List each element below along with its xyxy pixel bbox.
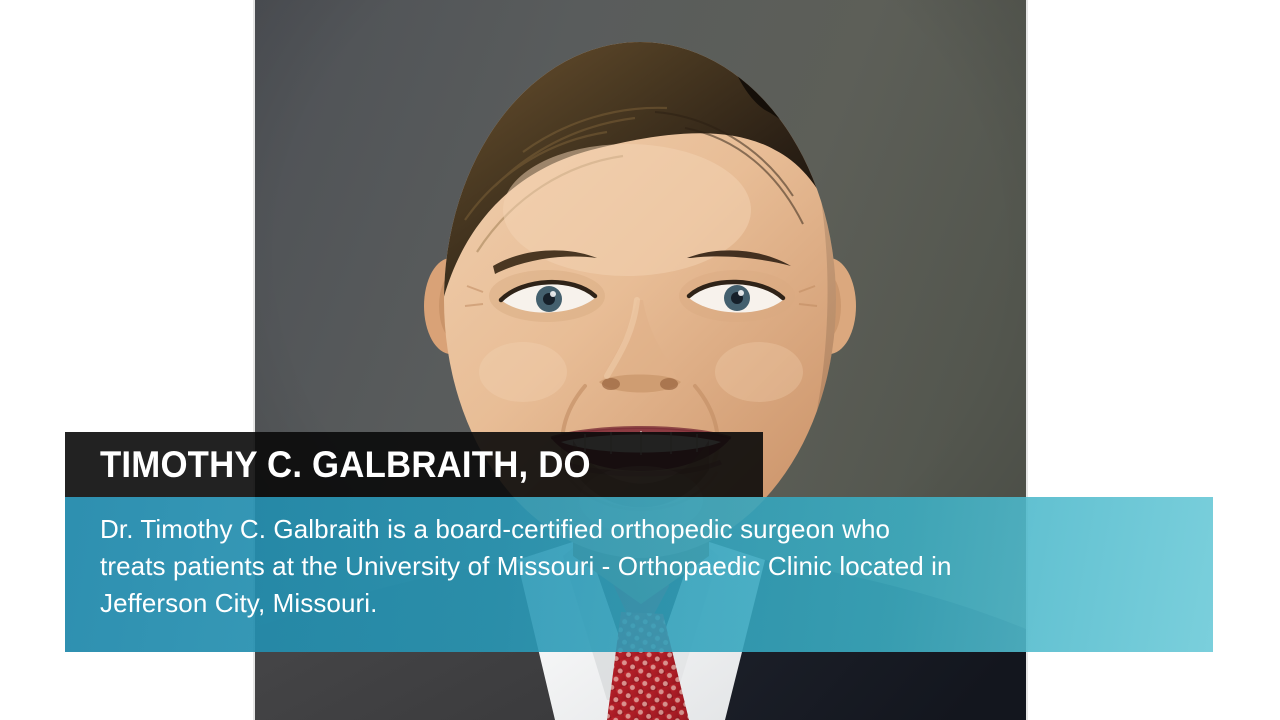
lower-third-description-banner: Dr. Timothy C. Galbraith is a board-cert… [65, 497, 1213, 652]
video-frame: TIMOTHY C. GALBRAITH, DO Dr. Timothy C. … [0, 0, 1280, 720]
doctor-name-title: TIMOTHY C. GALBRAITH, DO [100, 446, 591, 483]
doctor-description-text: Dr. Timothy C. Galbraith is a board-cert… [100, 511, 1187, 622]
lower-third-title-bar: TIMOTHY C. GALBRAITH, DO [65, 432, 763, 497]
